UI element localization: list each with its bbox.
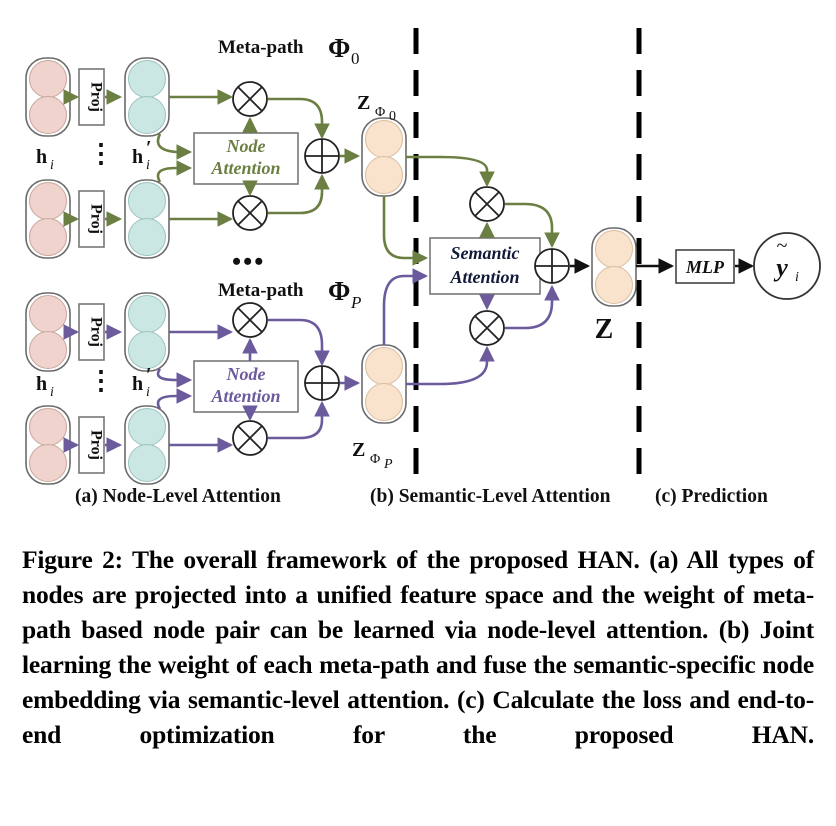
add-operator-bottom bbox=[305, 366, 339, 400]
z-phip-symbol: Z bbox=[352, 439, 365, 461]
semantic-attention-label-line2: Attention bbox=[449, 267, 519, 287]
node-attention-label-line2: Attention bbox=[210, 158, 280, 178]
arrow-hidden2-to-nodeatt-bottom bbox=[158, 396, 190, 409]
metapath-phip-symbol: Φ bbox=[328, 276, 350, 306]
proj-box-label: Proj bbox=[88, 82, 105, 112]
h-projected-label-top: h i ′ bbox=[132, 137, 152, 173]
h-input-label-bottom: h i bbox=[36, 373, 54, 400]
node-attention-label-line1: Node bbox=[226, 136, 266, 156]
projected-node-pill-bottom-2 bbox=[125, 406, 169, 484]
figure-caption: Figure 2: The overall framework of the p… bbox=[22, 542, 814, 787]
h-projected-prime: ′ bbox=[146, 364, 152, 386]
metapath-phip-subscript: P bbox=[350, 293, 361, 312]
z-phi0-symbol: Z bbox=[357, 92, 370, 114]
prediction-output-node: y i ~ bbox=[754, 233, 820, 299]
arrow-hidden2-to-nodeatt-top bbox=[158, 168, 190, 182]
metapath-phip-prefix: Meta-path bbox=[218, 280, 304, 301]
metapath-phi0-symbol: Φ bbox=[328, 33, 350, 63]
arrow-hidden1-to-nodeatt-bottom bbox=[158, 369, 190, 380]
h-projected-subscript: i bbox=[146, 385, 150, 400]
z-phip-phi: Φ bbox=[370, 452, 380, 467]
h-projected-subscript: i bbox=[146, 158, 150, 173]
node-attention-box-top: Node Attention bbox=[194, 133, 298, 184]
h-input-subscript: i bbox=[50, 385, 54, 400]
arrow-hidden1-to-nodeatt-top bbox=[158, 134, 190, 152]
proj-box-label: Proj bbox=[88, 204, 105, 234]
mlp-box: MLP bbox=[676, 250, 734, 283]
section-label-a: (a) Node-Level Attention bbox=[75, 486, 281, 507]
projected-node-pill-top-2 bbox=[125, 180, 169, 258]
proj-box-top-1: Proj bbox=[79, 69, 105, 125]
semantic-embedding-pill-phi0 bbox=[362, 118, 406, 196]
node-attention-label-line2: Attention bbox=[210, 386, 280, 406]
semantic-attention-box: Semantic Attention bbox=[430, 238, 540, 294]
proj-box-label: Proj bbox=[88, 430, 105, 460]
z-phi0-subscript: 0 bbox=[389, 109, 396, 124]
multiply-operator-bottom-2 bbox=[233, 421, 267, 455]
section-label-c: (c) Prediction bbox=[655, 486, 768, 507]
figure-page: Meta-path Φ 0 Proj bbox=[0, 0, 836, 826]
multiply-operator-bottom-1 bbox=[233, 303, 267, 337]
final-embedding-pill-z bbox=[592, 228, 636, 306]
input-node-pill-bottom-2 bbox=[26, 406, 70, 484]
h-input-symbol: h bbox=[36, 373, 47, 395]
section-label-b: (b) Semantic-Level Attention bbox=[370, 486, 611, 507]
semantic-multiply-operator-purple bbox=[470, 311, 504, 345]
node-attention-box-bottom: Node Attention bbox=[194, 361, 298, 412]
proj-box-top-2: Proj bbox=[79, 191, 105, 247]
arrow-multiply1-to-add-top bbox=[268, 99, 322, 137]
input-node-pill-bottom-1 bbox=[26, 293, 70, 371]
h-input-subscript: i bbox=[50, 158, 54, 173]
z-final-label: Z bbox=[595, 314, 614, 345]
metapath-phi0-prefix: Meta-path bbox=[218, 37, 304, 58]
semantic-add-operator bbox=[535, 249, 569, 283]
z-phip-subscript: P bbox=[383, 457, 393, 472]
han-framework-diagram: Meta-path Φ 0 Proj bbox=[0, 0, 836, 520]
proj-box-bottom-2: Proj bbox=[79, 417, 105, 473]
arrow-multiply1-to-add-bottom bbox=[268, 320, 322, 364]
multiply-operator-top-2 bbox=[233, 196, 267, 230]
input-node-pill-top-2 bbox=[26, 180, 70, 258]
vertical-ellipsis-bottom: ⋮ bbox=[88, 366, 116, 395]
semantic-level-attention-group: Semantic Attention bbox=[384, 157, 636, 384]
multiply-operator-top-1 bbox=[233, 82, 267, 116]
h-input-symbol: h bbox=[36, 146, 47, 168]
z-phi0-label: Z Φ 0 bbox=[357, 92, 396, 124]
z-phip-label: Z Φ P bbox=[352, 439, 393, 472]
h-projected-prime: ′ bbox=[146, 137, 152, 159]
z-phi0-phi: Φ bbox=[375, 105, 385, 120]
vertical-ellipsis-top: ⋮ bbox=[88, 139, 116, 168]
metapath-phi0-group: Meta-path Φ 0 Proj bbox=[26, 33, 406, 258]
h-projected-symbol: h bbox=[132, 373, 143, 395]
h-projected-symbol: h bbox=[132, 146, 143, 168]
projected-node-pill-bottom-1 bbox=[125, 293, 169, 371]
prediction-group: MLP y i ~ bbox=[636, 233, 820, 299]
metapath-phi0-subscript: 0 bbox=[351, 49, 360, 68]
proj-box-bottom-1: Proj bbox=[79, 304, 105, 360]
semantic-attention-label-line1: Semantic bbox=[450, 243, 519, 263]
node-attention-label-line1: Node bbox=[226, 364, 266, 384]
metapath-ellipsis: ••• bbox=[232, 247, 265, 276]
projected-node-pill-top-1 bbox=[125, 58, 169, 136]
arrow-zphip-to-semantic-attention bbox=[384, 276, 426, 345]
output-y-subscript: i bbox=[795, 270, 799, 285]
proj-box-label: Proj bbox=[88, 317, 105, 347]
input-node-pill-top-1 bbox=[26, 58, 70, 136]
mlp-box-label: MLP bbox=[685, 257, 725, 277]
output-y-tilde: ~ bbox=[777, 235, 788, 257]
semantic-embedding-pill-phip bbox=[362, 345, 406, 423]
h-input-label-top: h i bbox=[36, 146, 54, 173]
metapath-phi0-label: Meta-path Φ 0 bbox=[218, 33, 360, 68]
semantic-multiply-operator-green bbox=[470, 187, 504, 221]
metapath-phip-group: Meta-path Φ P Proj bbox=[26, 276, 406, 484]
output-y-symbol: y bbox=[773, 253, 788, 282]
arrow-zphi0-to-semantic-attention bbox=[384, 196, 426, 258]
add-operator-top bbox=[305, 139, 339, 173]
